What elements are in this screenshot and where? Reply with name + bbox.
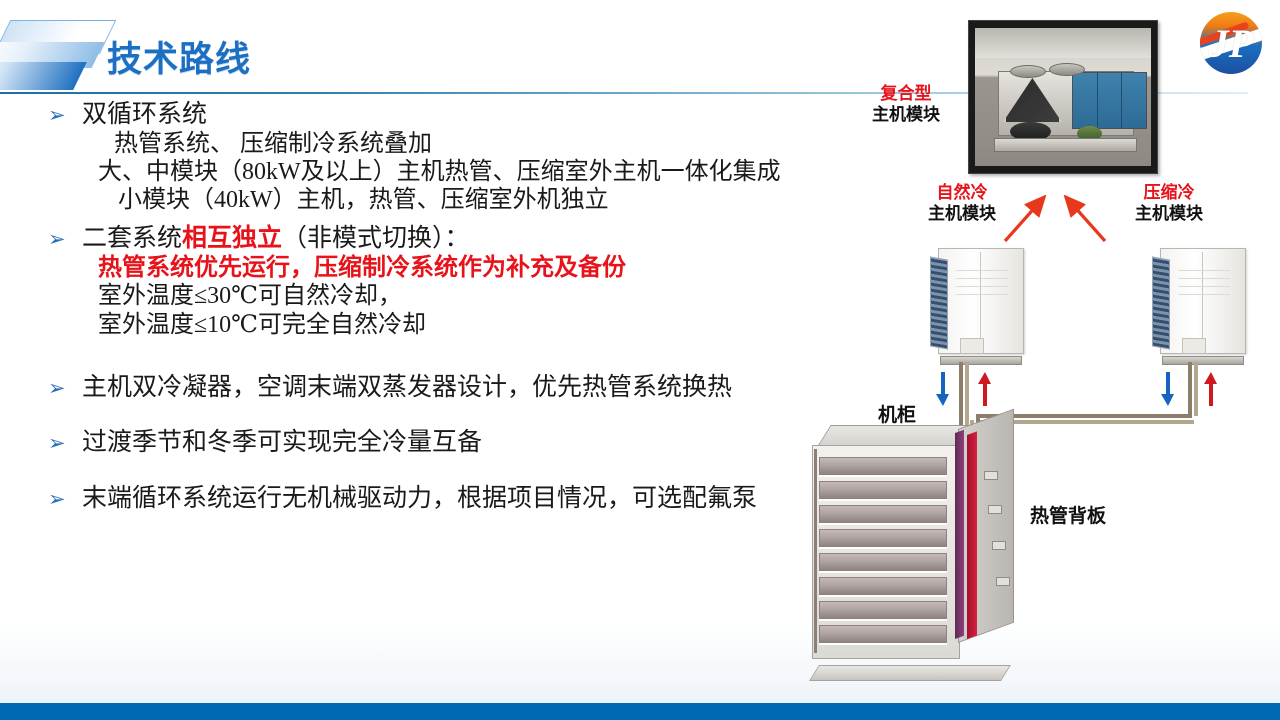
bullet-item: ➢ 末端循环系统运行无机械驱动力，根据项目情况，可选配氟泵: [48, 484, 858, 514]
outdoor-unit-left: [930, 248, 1022, 360]
chiller-coil-panels: [1072, 72, 1148, 129]
label-natural-cooling-module: 自然冷 主机模块: [928, 183, 996, 224]
label-heat-pipe-backplane: 热管背板: [1030, 505, 1106, 528]
bullet-subline: 大、中模块（80kW及以上）主机热管、压缩室外主机一体化集成: [48, 158, 858, 186]
outdoor-unit-right: [1152, 248, 1244, 360]
content-body: ➢ 双循环系统 热管系统、 压缩制冷系统叠加 大、中模块（80kW及以上）主机热…: [48, 100, 858, 513]
label-compression-cooling-module: 压缩冷 主机模块: [1135, 183, 1203, 224]
label-natural-red: 自然冷: [928, 183, 996, 204]
pipe-right-a: [1188, 362, 1192, 416]
bullet-line: 双循环系统: [82, 100, 207, 130]
pipe-left-a: [959, 362, 963, 430]
bullet-marker-icon: ➢: [48, 224, 82, 250]
backplane-strip-purple: [955, 430, 964, 639]
label-composite-module: 复合型 主机模块: [872, 84, 940, 125]
label-composite-red: 复合型: [872, 84, 940, 105]
return-arrow-right-icon: [1204, 372, 1218, 406]
label-compression-red: 压缩冷: [1135, 183, 1203, 204]
backplane-strip-red: [967, 431, 977, 639]
bullet-item: ➢ 二套系统相互独立（非模式切换）：: [48, 224, 858, 254]
chiller-room-bg: [975, 28, 1151, 166]
label-compression-black: 主机模块: [1135, 204, 1203, 223]
bullet-marker-icon: ➢: [48, 373, 82, 399]
odu-door-seam: [1202, 252, 1203, 348]
label-cabinet: 机柜: [878, 404, 916, 427]
bullet-subline: 室外温度≤30℃可自然冷却，: [48, 282, 858, 310]
odu-door-seam: [980, 252, 981, 348]
bullet-line-tail: （非模式切换）：: [282, 225, 470, 252]
bullet-item: ➢ 主机双冷凝器，空调末端双蒸发器设计，优先热管系统换热: [48, 373, 858, 403]
label-natural-black: 主机模块: [928, 204, 996, 223]
header-parallelogram-solid: [0, 62, 87, 90]
return-arrow-left-icon: [978, 372, 992, 406]
server-rack: [812, 425, 1018, 671]
bullet-subline: 小模块（40kW）主机，热管、压缩室外机独立: [48, 186, 858, 214]
odu-base: [1162, 356, 1244, 365]
system-diagram: 复合型 主机模块 自然冷 主机模块: [790, 0, 1280, 700]
chiller-base: [994, 138, 1137, 152]
bullet-line: 主机双冷凝器，空调末端双蒸发器设计，优先热管系统换热: [82, 373, 732, 403]
pipe-left-b: [965, 362, 969, 430]
bullet-line: 二套系统相互独立（非模式切换）：: [82, 224, 470, 254]
odu-coil-grille: [930, 256, 948, 349]
link-arrow-left-icon: [1000, 195, 1048, 245]
bullet-item: ➢ 双循环系统: [48, 100, 858, 130]
bullet-line-emphasis: 相互独立: [182, 225, 282, 252]
supply-arrow-left-icon: [936, 372, 950, 406]
supply-arrow-right-icon: [1161, 372, 1175, 406]
bullet-marker-icon: ➢: [48, 100, 82, 126]
pipe-right-b: [1194, 362, 1198, 416]
bullet-subline-highlight: 热管系统优先运行，压缩制冷系统作为补充及备份: [48, 254, 858, 282]
bullet-line: 末端循环系统运行无机械驱动力，根据项目情况，可选配氟泵: [82, 484, 757, 514]
link-arrow-right-icon: [1062, 195, 1110, 245]
odu-control-panel: [960, 338, 984, 354]
odu-base: [940, 356, 1022, 365]
bullet-line: 过渡季节和冬季可实现完全冷量互备: [82, 428, 482, 458]
rack-base: [809, 665, 1011, 681]
page-title: 技术路线: [107, 31, 251, 82]
odu-coil-grille: [1152, 256, 1170, 349]
slide-canvas: 技术路线 JP ➢ 双循环系统 热管系统、 压缩制冷系统叠加 大、中模块（80k…: [0, 0, 1280, 720]
bullet-marker-icon: ➢: [48, 484, 82, 510]
odu-control-panel: [1182, 338, 1206, 354]
label-composite-black: 主机模块: [872, 105, 940, 124]
footer-bar: [0, 703, 1280, 720]
bullet-line-lead: 二套系统: [82, 225, 182, 252]
bullet-subline: 室外温度≤10℃可完全自然冷却: [48, 311, 858, 339]
bullet-marker-icon: ➢: [48, 428, 82, 454]
bullet-subline: 热管系统、 压缩制冷系统叠加: [48, 130, 858, 158]
chiller-photo: [968, 20, 1158, 174]
bullet-item: ➢ 过渡季节和冬季可实现完全冷量互备: [48, 428, 858, 458]
chiller-ceiling: [975, 28, 1151, 58]
